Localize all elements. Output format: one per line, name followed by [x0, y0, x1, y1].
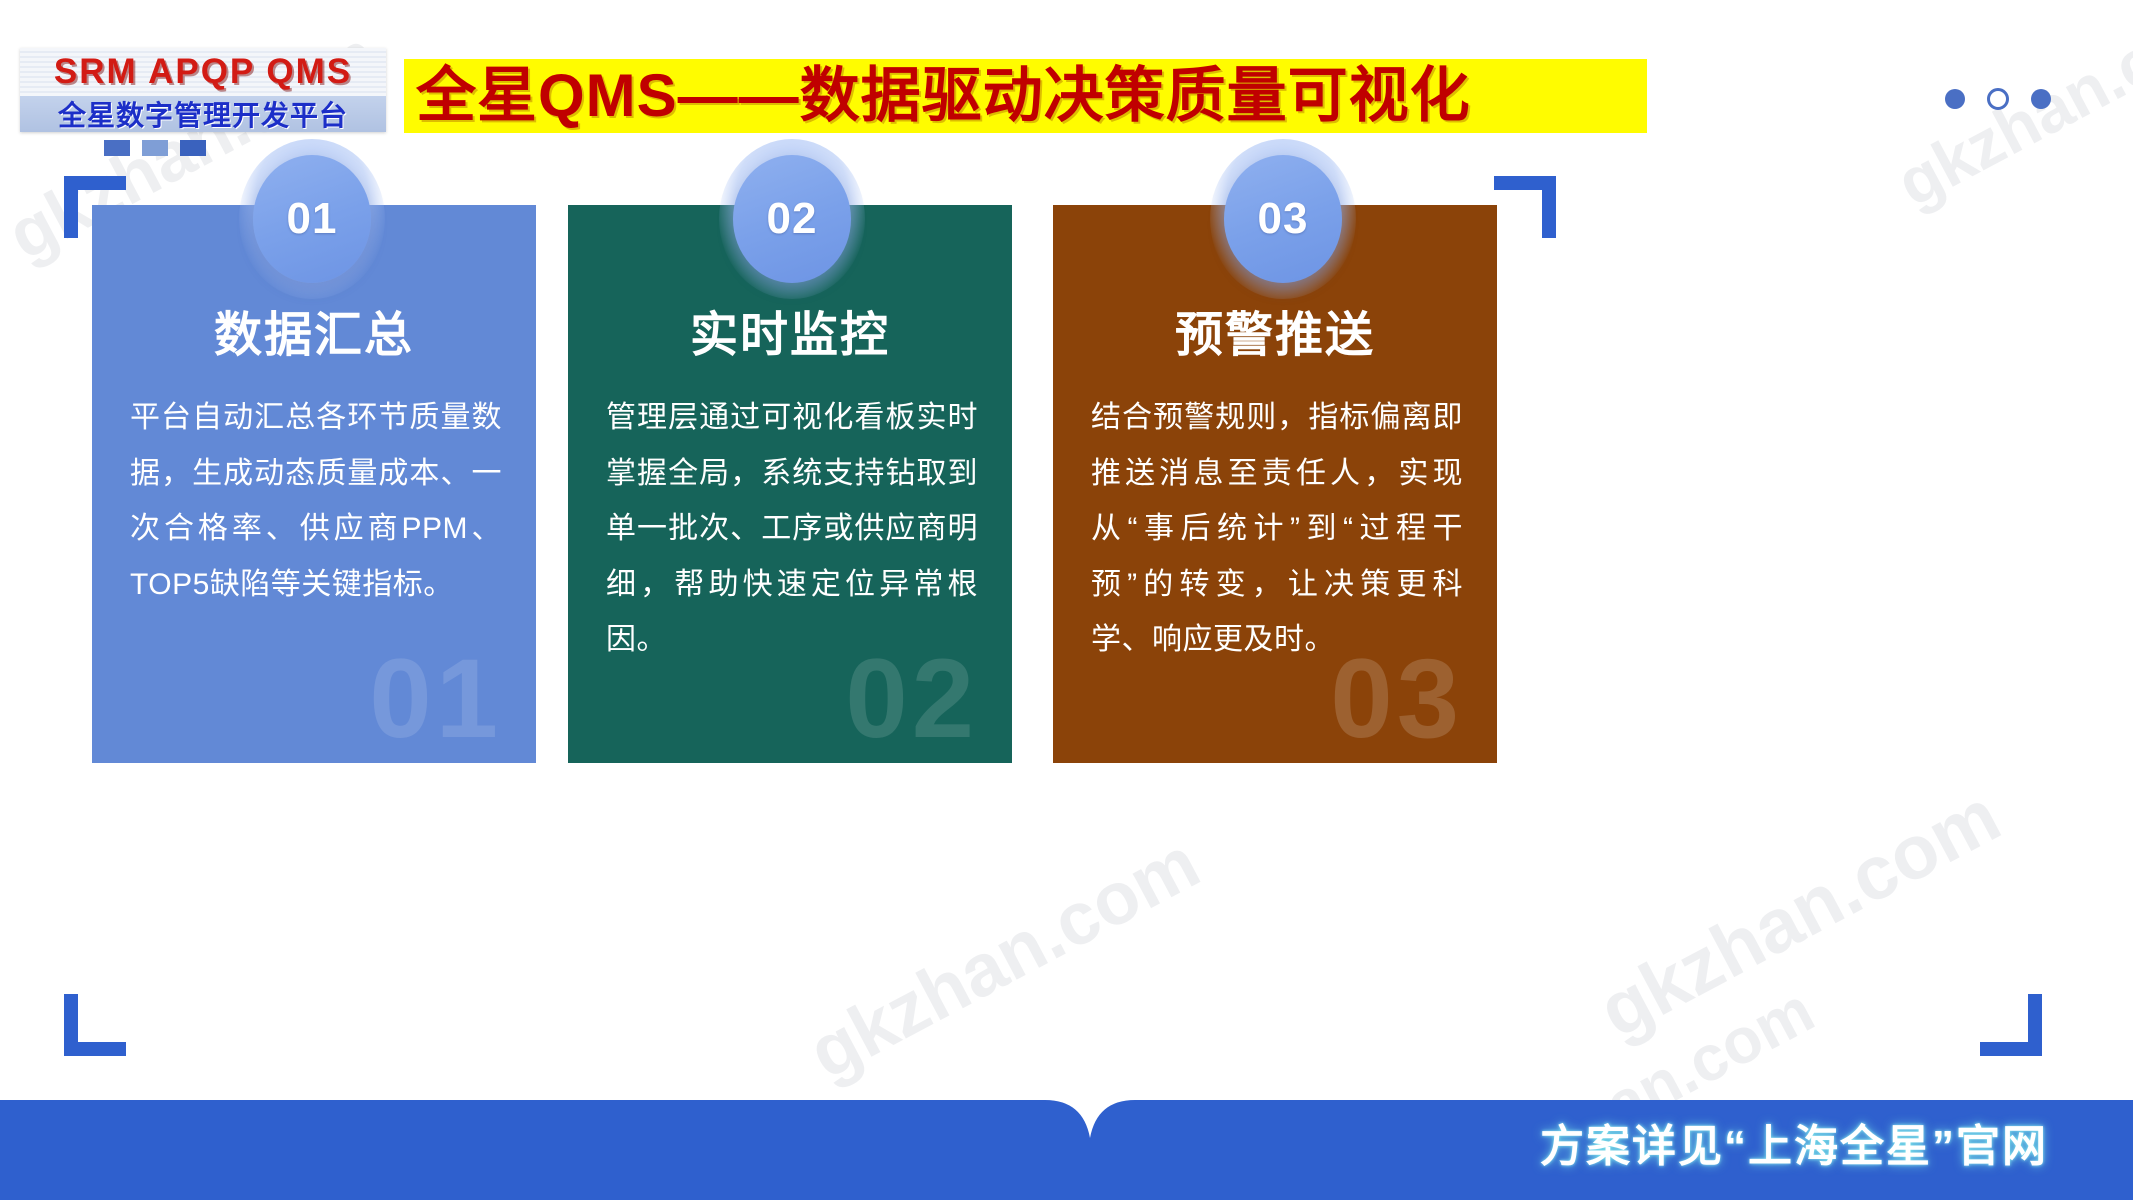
card-body-text: 管理层通过可视化看板实时掌握全局，系统支持钻取到单一批次、工序或供应商明细，帮助… — [606, 390, 978, 668]
brand-logo: SRM APQP QMS 全星数字管理开发平台 — [20, 48, 386, 132]
logo-dash — [142, 140, 168, 156]
watermark: gkzhan.com — [795, 820, 1212, 1096]
badge-disc: 02 — [733, 155, 851, 283]
badge-number: 01 — [287, 194, 338, 244]
slide-canvas: gkzhan.com gkzhan.com gkzhan.com gkzhan.… — [0, 0, 2133, 1200]
step-badge-2: 02 — [733, 155, 851, 283]
logo-dash — [180, 140, 206, 156]
corner-bracket-bottom-left — [64, 994, 126, 1056]
card-title: 实时监控 — [568, 295, 1012, 365]
badge-disc: 03 — [1224, 155, 1342, 283]
logo-bottom-row: 全星数字管理开发平台 — [20, 96, 386, 132]
badge-number: 02 — [767, 194, 818, 244]
card-title: 数据汇总 — [92, 295, 536, 365]
badge-disc: 01 — [253, 155, 371, 283]
card-ghost-number: 01 — [369, 643, 502, 755]
card-body-text: 平台自动汇总各环节质量数据，生成动态质量成本、一次合格率、供应商PPM、TOP5… — [130, 390, 502, 612]
corner-bracket-top-right — [1494, 176, 1556, 238]
step-badge-3: 03 — [1224, 155, 1342, 283]
footer-note: 方案详见“上海全星”官网 — [1540, 1110, 2048, 1174]
page-title: 全星QMS——数据驱动决策质量可视化 — [416, 66, 1471, 126]
title-banner: 全星QMS——数据驱动决策质量可视化 — [404, 59, 1647, 133]
watermark: gkzhan.com — [1884, 0, 2133, 221]
pagination-dots[interactable] — [1945, 88, 2051, 110]
card-title: 预警推送 — [1053, 295, 1497, 365]
step-badge-1: 01 — [253, 155, 371, 283]
logo-platform-name: 全星数字管理开发平台 — [58, 94, 348, 132]
card-body-text: 结合预警规则，指标偏离即推送消息至责任人，实现从“事后统计”到“过程干预”的转变… — [1091, 390, 1463, 668]
footer-bar: 方案详见“上海全星”官网 — [0, 1082, 2133, 1200]
logo-acronyms: SRM APQP QMS — [54, 52, 352, 92]
page-dot-1[interactable] — [1945, 89, 1965, 109]
page-dot-2-active[interactable] — [1987, 88, 2009, 110]
card-ghost-number: 03 — [1330, 643, 1463, 755]
logo-dash — [104, 140, 130, 156]
badge-number: 03 — [1258, 194, 1309, 244]
logo-decor-dashes — [104, 140, 206, 156]
card-ghost-number: 02 — [845, 643, 978, 755]
logo-top-row: SRM APQP QMS — [20, 48, 386, 96]
watermark: gkzhan.com — [1585, 772, 2014, 1055]
corner-bracket-bottom-right — [1980, 994, 2042, 1056]
page-dot-3[interactable] — [2031, 89, 2051, 109]
